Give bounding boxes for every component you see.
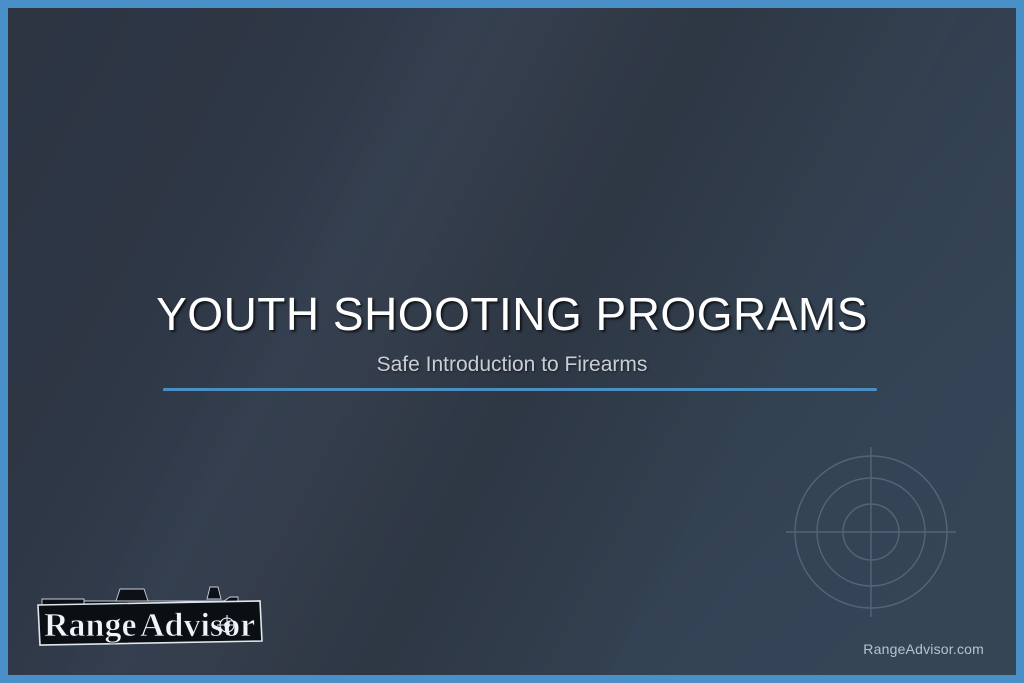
slide-canvas: YOUTH SHOOTING PROGRAMS Safe Introductio… [8,8,1016,675]
logo-text-primary: Range [44,607,137,644]
page-subtitle: Safe Introduction to Firearms [8,352,1016,377]
title-block: YOUTH SHOOTING PROGRAMS Safe Introductio… [8,290,1016,377]
rangeadvisor-logo: Range Advisor [24,579,274,657]
logo-text-secondary: Advisor [140,607,255,644]
crosshair-target-icon [786,447,956,617]
page-title: YOUTH SHOOTING PROGRAMS [8,290,1016,340]
footer-site-label: RangeAdvisor.com [863,641,984,657]
accent-divider [163,388,877,391]
slide-frame: YOUTH SHOOTING PROGRAMS Safe Introductio… [0,0,1024,683]
